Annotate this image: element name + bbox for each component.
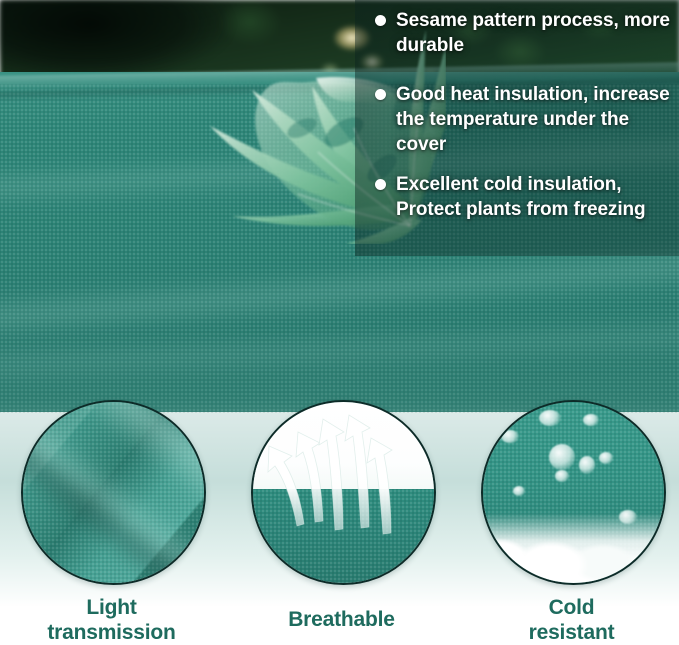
feature-label-line: Breathable bbox=[251, 607, 432, 632]
feature-bullet-text: Sesame pattern process, more durable bbox=[396, 8, 675, 58]
feature-bullet-item: Sesame pattern process, more durable bbox=[375, 8, 675, 58]
feature-circle-image bbox=[21, 400, 206, 585]
feature-circle-image bbox=[481, 400, 666, 585]
feature-label-cold-resistant: Cold resistant bbox=[481, 595, 662, 645]
bullet-dot-icon bbox=[375, 179, 386, 190]
feature-bullet-text: Good heat insulation, increase the tempe… bbox=[396, 82, 675, 157]
feature-label-line: transmission bbox=[21, 620, 202, 645]
feature-bullet-text: Excellent cold insulation, Protect plant… bbox=[396, 172, 675, 222]
feature-bullet-item: Excellent cold insulation, Protect plant… bbox=[375, 172, 675, 222]
feature-cold-resistant bbox=[481, 400, 662, 585]
feature-circle-image bbox=[251, 400, 436, 585]
airflow-arrows-icon bbox=[253, 402, 429, 578]
feature-label-light-transmission: Light transmission bbox=[21, 595, 202, 645]
feature-label-breathable: Breathable bbox=[251, 607, 432, 632]
feature-bullet-item: Good heat insulation, increase the tempe… bbox=[375, 82, 675, 157]
feature-label-line: resistant bbox=[481, 620, 662, 645]
feature-label-line: Light bbox=[21, 595, 202, 620]
feature-light-transmission bbox=[21, 400, 202, 585]
feature-bullet-list: Sesame pattern process, more durable Goo… bbox=[355, 0, 679, 256]
bullet-dot-icon bbox=[375, 15, 386, 26]
feature-breathable bbox=[251, 400, 432, 585]
bullet-dot-icon bbox=[375, 89, 386, 100]
infographic-canvas: Sesame pattern process, more durable Goo… bbox=[0, 0, 679, 645]
feature-label-line: Cold bbox=[481, 595, 662, 620]
